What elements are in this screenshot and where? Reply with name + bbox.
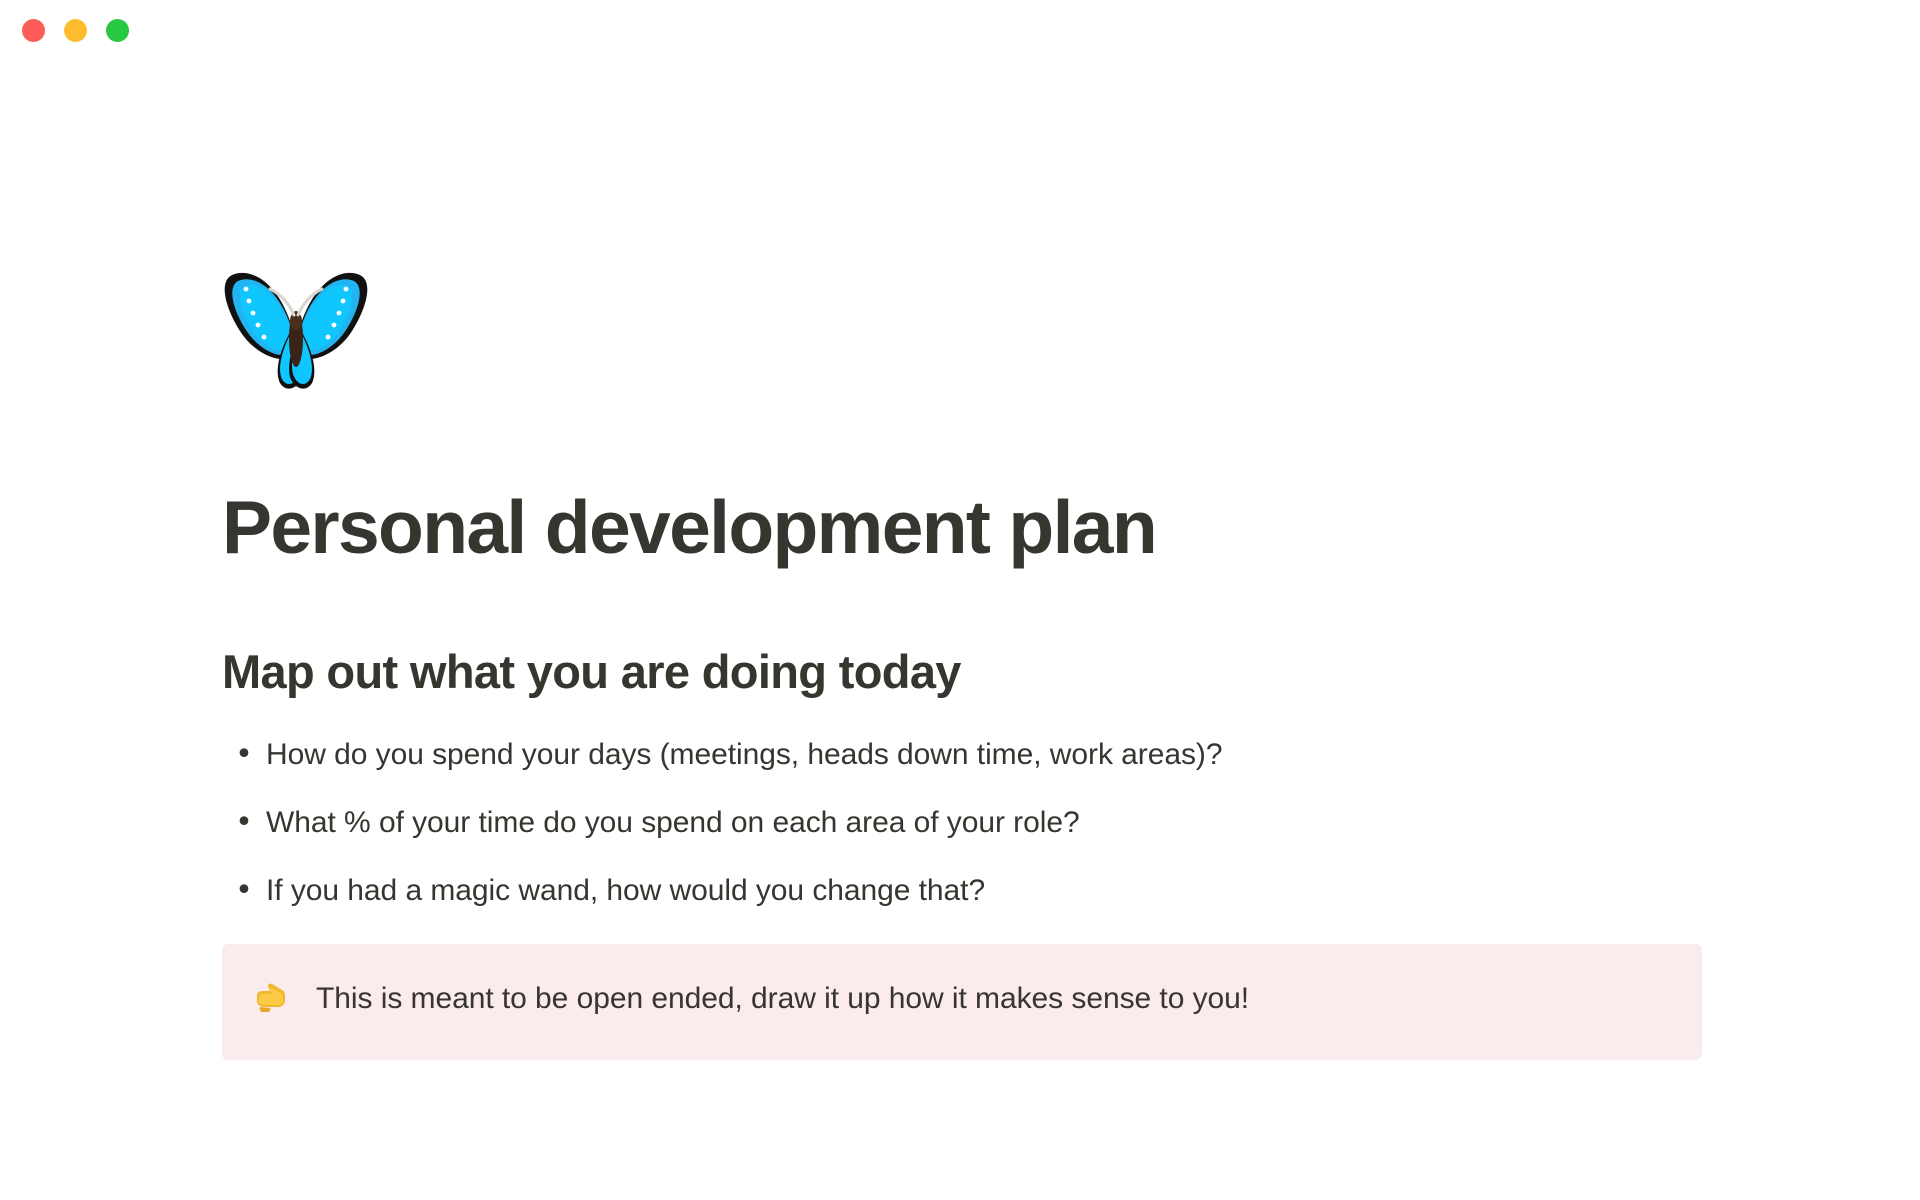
list-item-text: What % of your time do you spend on each… (266, 802, 1080, 844)
section-heading[interactable]: Map out what you are doing today (222, 644, 1860, 700)
butterfly-icon[interactable] (222, 265, 392, 405)
window-titlebar (0, 0, 1920, 60)
list-item-text: If you had a magic wand, how would you c… (266, 870, 985, 912)
bullet-dot-icon: • (222, 802, 266, 844)
document-page: Personal development plan Map out what y… (0, 265, 1920, 1060)
bulleted-list: • How do you spend your days (meetings, … (222, 734, 1860, 912)
page-title[interactable]: Personal development plan (222, 483, 1860, 572)
list-item-text: How do you spend your days (meetings, he… (266, 734, 1222, 776)
bullet-dot-icon: • (222, 870, 266, 912)
callout-block[interactable]: This is meant to be open ended, draw it … (222, 944, 1702, 1060)
minimize-window-button[interactable] (64, 19, 87, 42)
close-window-button[interactable] (22, 19, 45, 42)
list-item[interactable]: • What % of your time do you spend on ea… (222, 802, 1860, 844)
maximize-window-button[interactable] (106, 19, 129, 42)
window-controls (22, 19, 129, 42)
list-item[interactable]: • If you had a magic wand, how would you… (222, 870, 1860, 912)
bullet-dot-icon: • (222, 734, 266, 776)
list-item[interactable]: • How do you spend your days (meetings, … (222, 734, 1860, 776)
callout-text: This is meant to be open ended, draw it … (316, 978, 1249, 1020)
pointing-right-icon (254, 978, 316, 1016)
